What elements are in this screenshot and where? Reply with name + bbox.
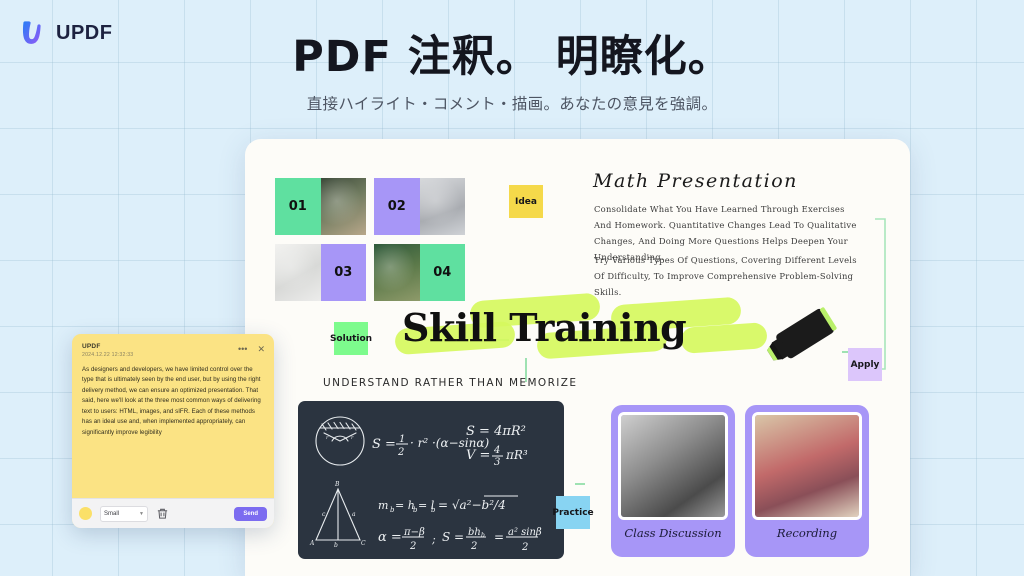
photo-card-recording[interactable]: Recording <box>745 405 869 557</box>
ellipsis-icon[interactable]: ••• <box>238 345 247 354</box>
comment-meta: UPDF 2024.12.22 12:32:33 <box>82 343 238 358</box>
svg-text:1: 1 <box>399 434 405 445</box>
comment-body-text[interactable]: As designers and developers, we have lim… <box>72 358 274 498</box>
blackboard-formulas: r r S = 1 2 · r² ·(α−sinα) S = 4πR² V = … <box>298 401 564 559</box>
tag-solution[interactable]: Solution <box>334 322 368 355</box>
tag-apply[interactable]: Apply <box>848 348 882 381</box>
skill-training-heading: Skill Training <box>402 305 686 350</box>
svg-text:3: 3 <box>494 457 500 468</box>
svg-text:π−β: π−β <box>403 527 425 538</box>
grid-number-04: 04 <box>433 265 451 280</box>
grid-cell-04: 04 <box>374 244 465 301</box>
svg-text:C: C <box>361 540 366 547</box>
svg-text:b: b <box>334 542 338 549</box>
grid-cell-02: 02 <box>374 178 465 235</box>
grid-photo-04 <box>374 244 420 301</box>
hero-block: PDF 注釈。 明瞭化。 直接ハイライト・コメント・描画。あなたの意見を強調。 <box>0 32 1024 114</box>
svg-text:bh: bh <box>468 527 481 538</box>
image-grid: 01 02 03 04 <box>275 178 465 301</box>
svg-text:=: = <box>494 530 504 544</box>
font-size-value: Small <box>104 511 119 517</box>
grid-photo-01 <box>321 178 367 235</box>
highlighter-pen-icon <box>763 303 843 369</box>
send-button[interactable]: Send <box>234 507 267 521</box>
page-title: PDF 注釈。 明瞭化。 <box>0 32 1024 83</box>
photo-recording <box>752 412 862 520</box>
svg-text:S = 4πR²: S = 4πR² <box>466 424 526 439</box>
grid-photo-03 <box>275 244 321 301</box>
grid-number-03: 03 <box>334 265 352 280</box>
svg-text:= h: = h <box>395 499 415 512</box>
highlight-stroke-5 <box>680 322 768 354</box>
tag-practice[interactable]: Practice <box>556 496 590 529</box>
svg-text:b: b <box>481 532 485 539</box>
grid-photo-02 <box>420 178 466 235</box>
svg-text:A: A <box>309 540 315 547</box>
trash-icon[interactable] <box>156 507 169 520</box>
svg-text:r: r <box>326 435 329 441</box>
svg-text:α =: α = <box>378 530 402 545</box>
photo-class-discussion <box>618 412 728 520</box>
comment-actions: ••• ✕ <box>238 343 265 354</box>
svg-text:m: m <box>378 499 388 512</box>
comment-toolbar: Small ▼ Send <box>72 498 274 528</box>
body-paragraph-2: Try Various Types Of Questions, Covering… <box>594 252 862 300</box>
grid-cell-01: 01 <box>275 178 366 235</box>
svg-text:b: b <box>431 506 436 514</box>
svg-text:2: 2 <box>397 447 404 458</box>
svg-text:r: r <box>351 435 354 441</box>
photo-caption-recording: Recording <box>752 526 862 540</box>
photo-caption-class-discussion: Class Discussion <box>618 526 728 540</box>
chevron-down-icon: ▼ <box>139 511 144 517</box>
grid-number-02: 02 <box>388 199 406 214</box>
svg-text:V =: V = <box>466 448 490 463</box>
skill-training-block: Skill Training <box>395 299 765 361</box>
svg-text:;: ; <box>431 533 436 546</box>
svg-text:a: a <box>352 511 356 518</box>
tag-idea[interactable]: Idea <box>509 185 543 218</box>
svg-text:S =: S = <box>372 437 396 452</box>
svg-text:2: 2 <box>409 541 416 552</box>
color-swatch-button[interactable] <box>79 507 92 520</box>
comment-annotation-popup[interactable]: UPDF 2024.12.22 12:32:33 ••• ✕ As design… <box>72 334 274 528</box>
svg-text:2: 2 <box>521 542 528 553</box>
svg-text:4: 4 <box>493 445 500 456</box>
svg-text:2: 2 <box>470 541 477 552</box>
svg-text:B: B <box>334 481 340 488</box>
section-heading-math: Math Presentation <box>593 170 798 192</box>
photo-card-class-discussion[interactable]: Class Discussion <box>611 405 735 557</box>
grid-number-01: 01 <box>289 199 307 214</box>
page-subtitle: 直接ハイライト・コメント・描画。あなたの意見を強調。 <box>0 92 1024 114</box>
comment-author: UPDF <box>82 343 238 350</box>
comment-header: UPDF 2024.12.22 12:32:33 ••• ✕ <box>72 334 274 358</box>
handwritten-subheading: UNDERSTAND RATHER THAN MEMORIZE <box>323 377 577 389</box>
svg-text:= √a²−b²/4: = √a²−b²/4 <box>438 498 506 512</box>
close-icon[interactable]: ✕ <box>257 345 265 354</box>
svg-text:a² sinβ: a² sinβ <box>508 527 542 538</box>
grid-cell-03: 03 <box>275 244 366 301</box>
svg-text:S =: S = <box>442 530 464 544</box>
font-size-select[interactable]: Small ▼ <box>100 506 148 522</box>
svg-text:πR³: πR³ <box>505 448 528 462</box>
